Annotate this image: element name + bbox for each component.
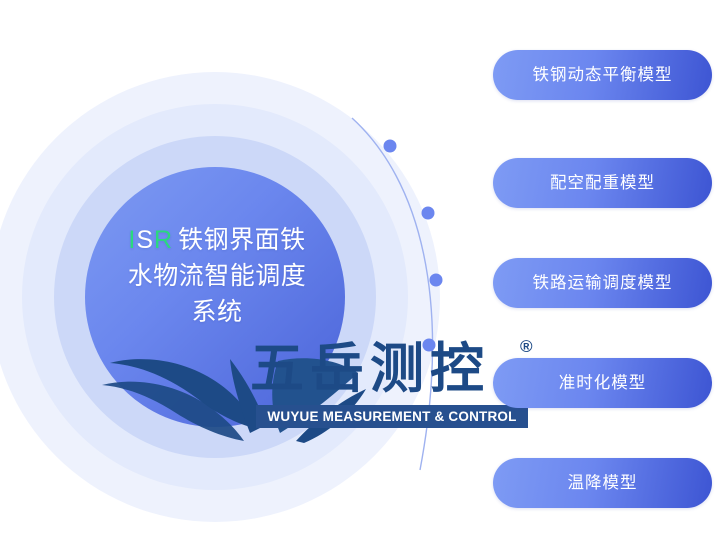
connector-node-4: [423, 339, 436, 352]
model-button-0[interactable]: 铁钢动态平衡模型: [493, 50, 712, 100]
connector-node-3: [430, 274, 443, 287]
registered-mark-icon: ®: [520, 337, 533, 357]
title-line-1: 铁钢界面铁: [178, 226, 306, 254]
connector-arc-line: [352, 118, 432, 470]
model-button-1[interactable]: 配空配重模型: [493, 158, 712, 208]
model-button-2[interactable]: 铁路运输调度模型: [493, 258, 712, 308]
title-line-2: 水物流智能调度: [128, 262, 307, 290]
acronym-letter-r: R: [154, 226, 173, 254]
acronym-isr: ISR: [128, 226, 173, 254]
watermark-brand-en: WUYUE MEASUREMENT & CONTROL: [256, 405, 528, 428]
acronym-letter-s: S: [136, 226, 154, 254]
connector-node-5: [415, 406, 428, 419]
page-title: ISR铁钢界面铁 水物流智能调度 系统: [88, 222, 346, 330]
model-button-3[interactable]: 准时化模型: [493, 358, 712, 408]
model-button-4[interactable]: 温降模型: [493, 458, 712, 508]
connector-node-2: [422, 207, 435, 220]
title-line-3: 系统: [191, 298, 242, 326]
connector-node-1: [384, 140, 397, 153]
